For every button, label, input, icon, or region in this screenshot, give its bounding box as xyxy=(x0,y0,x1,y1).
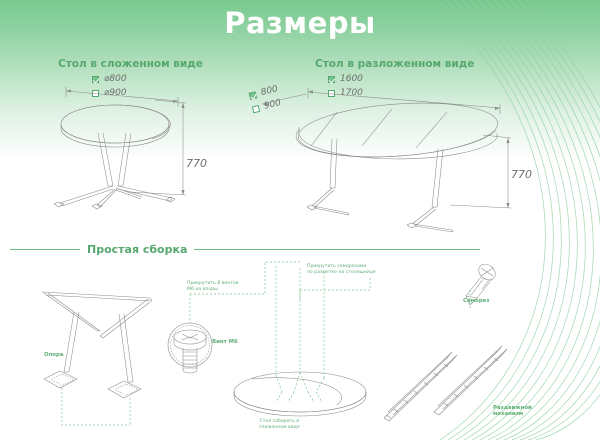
drawing-bolt-m6 xyxy=(168,323,212,373)
part-label-bolt: Винт М6 xyxy=(212,339,238,345)
drawing-unfolded-oval-table xyxy=(262,88,511,232)
drawing-assembly-base xyxy=(42,292,152,398)
divider-line-right xyxy=(194,249,480,250)
assembly-divider: Простая сборка xyxy=(10,243,480,256)
divider-line-left xyxy=(10,249,80,250)
drawing-assembly-tabletop xyxy=(234,372,366,416)
technical-drawings xyxy=(0,0,600,440)
note-attach-self-tapping: Прикрутить саморезами по разметке на сто… xyxy=(307,264,376,276)
note-attach-screws: Прикрутить 8 винтов М6 на опоры xyxy=(187,281,239,293)
part-label-support: Опора xyxy=(44,352,64,358)
dimensions-infographic-page: Размеры Стол в сложенном виде Стол в раз… xyxy=(0,0,600,440)
part-label-sliding-mechanism: Раздвижной механизм xyxy=(493,405,532,417)
assembly-section-title: Простая сборка xyxy=(87,243,187,256)
drawing-sliding-mechanism xyxy=(384,346,507,421)
drawing-folded-round-table xyxy=(54,87,186,209)
dimension-height-unfolded: 770 xyxy=(511,168,532,181)
note-assemble-folded: Стол собирать в сложенном виде xyxy=(259,419,300,431)
dimension-height-folded: 770 xyxy=(186,157,207,170)
part-label-self-tapping-screw: Саморез xyxy=(463,298,489,304)
